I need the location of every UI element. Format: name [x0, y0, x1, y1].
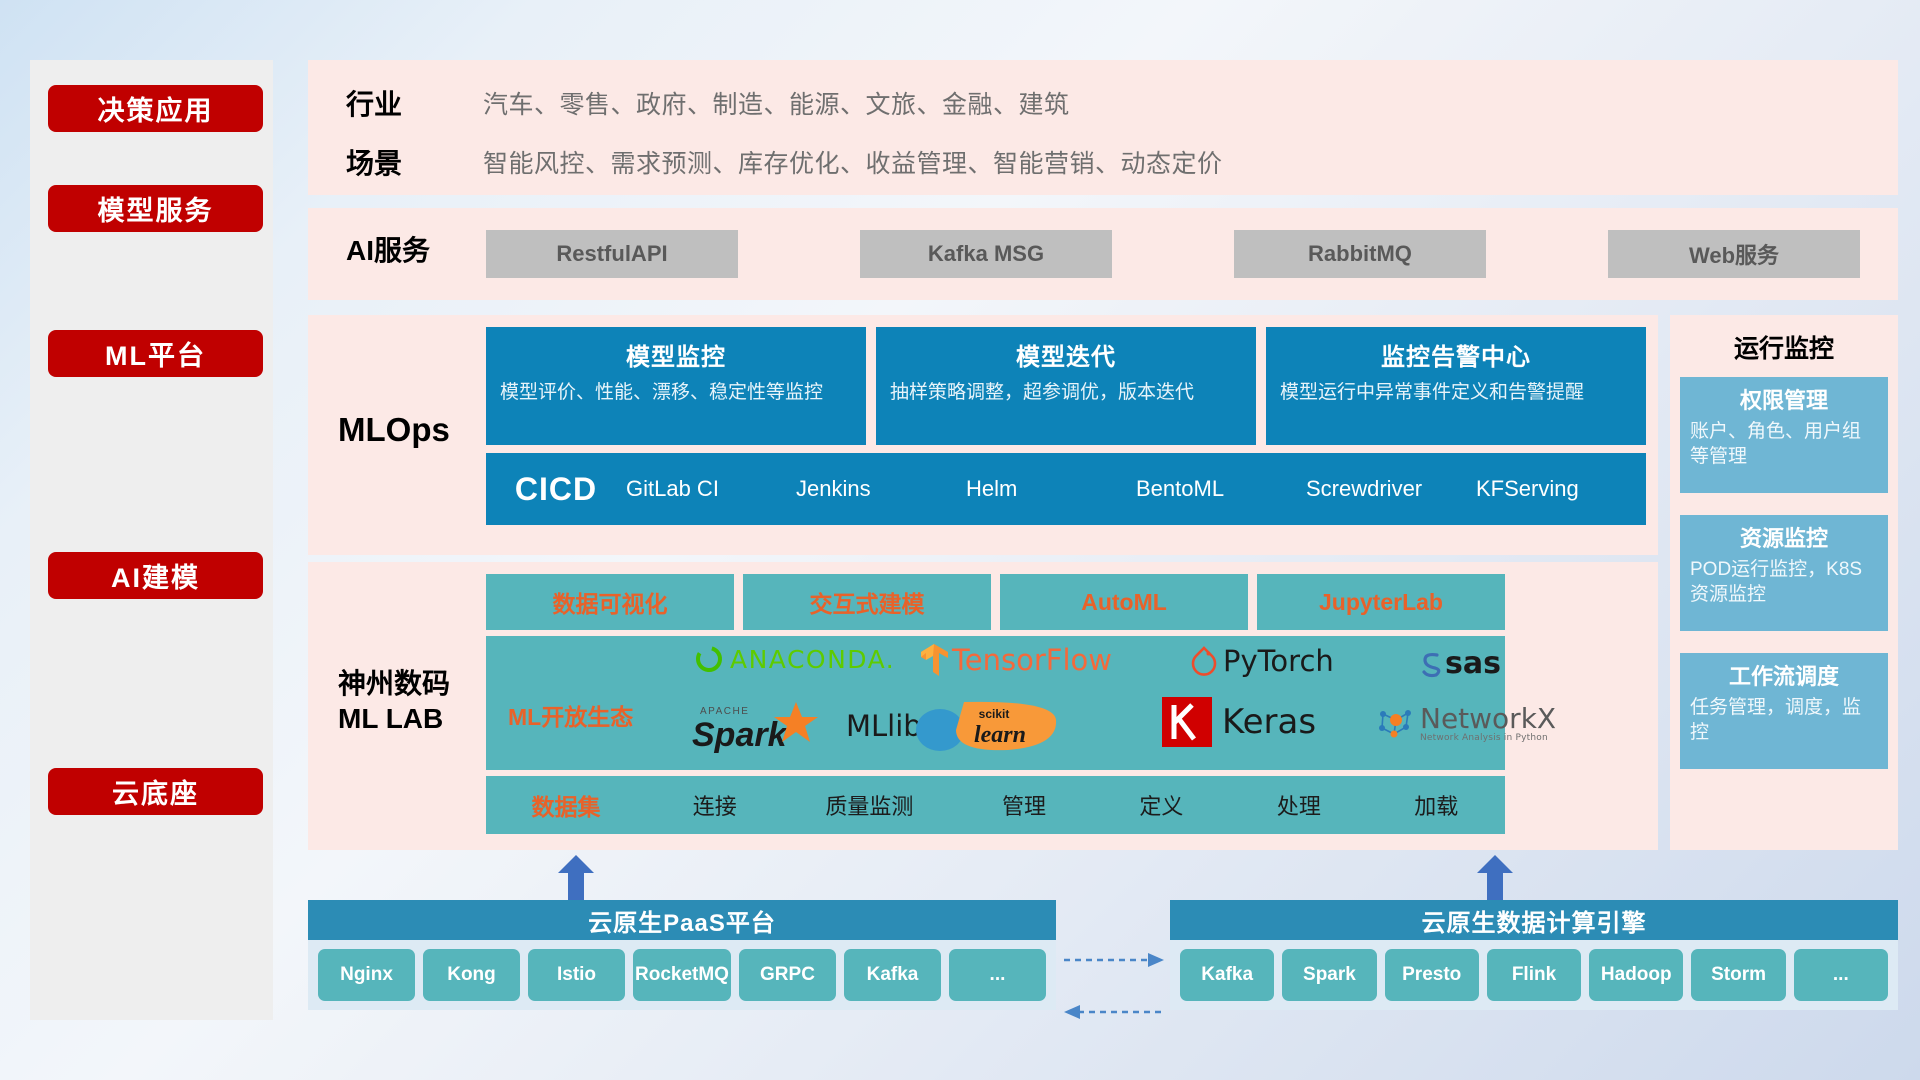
service-chip-kafka-msg[interactable]: Kafka MSG	[860, 230, 1112, 278]
scikit-learn-icon: scikit learn	[950, 700, 1062, 752]
industry-key: 行业	[308, 83, 483, 123]
paas-chip-istio[interactable]: Istio	[528, 949, 625, 1001]
scikit-learn-logo: scikit learn	[914, 700, 1062, 757]
ai-service-label: AI服务	[346, 234, 430, 268]
cloud-native-data-engine-box: 云原生数据计算引擎 Kafka Spark Presto Flink Hadoo…	[1170, 900, 1898, 1010]
anaconda-icon	[694, 644, 724, 674]
pytorch-label: PyTorch	[1223, 644, 1334, 678]
pytorch-icon	[1191, 646, 1217, 676]
tile-label: AutoML	[1081, 589, 1167, 616]
sas-logo: sas	[1418, 646, 1501, 681]
paas-chip-rocketmq[interactable]: RocketMQ	[633, 949, 731, 1001]
stage-label: 模型服务	[98, 189, 214, 228]
cicd-item-kfserving[interactable]: KFServing	[1476, 477, 1646, 501]
stage-pill-decision-app[interactable]: 决策应用	[48, 85, 263, 132]
dataset-item-process[interactable]: 处理	[1230, 789, 1367, 821]
industry-row: 行业 汽车、零售、政府、制造、能源、文旅、金融、建筑	[308, 72, 1898, 134]
mon-card-title: 资源监控	[1690, 521, 1878, 553]
arrow-right-dashed-icon	[1064, 952, 1164, 968]
service-chip-label: Kafka MSG	[928, 241, 1044, 267]
cicd-strip: CICD GitLab CI Jenkins Helm BentoML Scre…	[486, 453, 1646, 525]
mllab-label: 神州数码 ML LAB	[338, 666, 450, 736]
engine-chip-spark[interactable]: Spark	[1282, 949, 1376, 1001]
cicd-item-screwdriver[interactable]: Screwdriver	[1306, 477, 1476, 501]
service-chip-restfulapi[interactable]: RestfulAPI	[486, 230, 738, 278]
cloud-native-paas-chips: Nginx Kong Istio RocketMQ GRPC Kafka ...	[308, 940, 1056, 1010]
svg-text:learn: learn	[974, 722, 1026, 748]
pytorch-logo: PyTorch	[1191, 644, 1334, 678]
cicd-item-helm[interactable]: Helm	[966, 477, 1136, 501]
scenario-value: 智能风控、需求预测、库存优化、收益管理、智能营销、动态定价	[483, 144, 1223, 180]
mlops-card-title: 监控告警中心	[1280, 337, 1632, 372]
mon-card-resource-monitoring[interactable]: 资源监控 POD运行监控，K8S资源监控	[1680, 515, 1888, 631]
tile-label: JupyterLab	[1319, 589, 1443, 616]
cloud-native-paas-box: 云原生PaaS平台 Nginx Kong Istio RocketMQ GRPC…	[308, 900, 1056, 1010]
mon-card-desc: POD运行监控，K8S资源监控	[1690, 558, 1878, 607]
mllib-label: MLlib	[846, 709, 922, 743]
cloud-native-data-engine-title: 云原生数据计算引擎	[1170, 900, 1898, 940]
mon-card-desc: 账户、角色、用户组等管理	[1690, 420, 1878, 469]
mlops-card-desc: 模型运行中异常事件定义和告警提醒	[1280, 380, 1632, 405]
arrow-up-data-engine-icon	[1473, 855, 1517, 901]
stage-pill-model-service[interactable]: 模型服务	[48, 185, 263, 232]
keras-icon	[1162, 697, 1212, 747]
dataset-item-define[interactable]: 定义	[1093, 789, 1230, 821]
industry-value: 汽车、零售、政府、制造、能源、文旅、金融、建筑	[483, 85, 1070, 121]
mon-card-title: 权限管理	[1690, 383, 1878, 415]
tile-label: 交互式建模	[810, 585, 925, 619]
mlops-card-title: 模型监控	[500, 337, 852, 372]
stage-pill-cloud-base[interactable]: 云底座	[48, 768, 263, 815]
arrow-left-dashed-icon	[1064, 1004, 1164, 1020]
mlops-label: MLOps	[338, 410, 450, 450]
service-chip-label: RabbitMQ	[1308, 241, 1412, 267]
engine-chip-flink[interactable]: Flink	[1487, 949, 1581, 1001]
mon-card-title: 工作流调度	[1690, 659, 1878, 691]
mllab-label-cn: 神州数码	[338, 666, 450, 701]
engine-chip-more[interactable]: ...	[1794, 949, 1888, 1001]
dataset-label: 数据集	[486, 788, 646, 822]
dataset-item-quality[interactable]: 质量监测	[783, 789, 955, 821]
tensorflow-logo: TensorFlow	[920, 643, 1112, 677]
mon-card-desc: 任务管理，调度，监控	[1690, 696, 1878, 745]
mlops-card-alert-center[interactable]: 监控告警中心 模型运行中异常事件定义和告警提醒	[1266, 327, 1646, 445]
runtime-monitoring-column: 运行监控 权限管理 账户、角色、用户组等管理 资源监控 POD运行监控，K8S资…	[1670, 315, 1898, 850]
paas-chip-nginx[interactable]: Nginx	[318, 949, 415, 1001]
mlops-card-desc: 模型评价、性能、漂移、稳定性等监控	[500, 380, 852, 405]
stage-label: 云底座	[112, 772, 199, 811]
cicd-item-gitlab-ci[interactable]: GitLab CI	[626, 477, 796, 501]
decision-app-band: 行业 汽车、零售、政府、制造、能源、文旅、金融、建筑 场景 智能风控、需求预测、…	[308, 60, 1898, 195]
sas-label: sas	[1445, 646, 1501, 681]
stage-label: ML平台	[105, 334, 206, 373]
dataset-item-manage[interactable]: 管理	[955, 789, 1092, 821]
mon-card-permission-management[interactable]: 权限管理 账户、角色、用户组等管理	[1680, 377, 1888, 493]
svg-text:Spark: Spark	[692, 716, 789, 754]
service-chip-web-service[interactable]: Web服务	[1608, 230, 1860, 278]
scenario-key: 场景	[308, 142, 483, 182]
runtime-monitoring-title: 运行监控	[1670, 315, 1898, 365]
cloud-native-paas-title: 云原生PaaS平台	[308, 900, 1056, 940]
ml-open-ecosystem-panel: ML开放生态 ANACONDA. TensorFlow	[486, 636, 1505, 770]
cloud-native-data-engine-chips: Kafka Spark Presto Flink Hadoop Storm ..…	[1170, 940, 1898, 1010]
ai-modeling-band: 神州数码 ML LAB 数据可视化 交互式建模 AutoML JupyterLa…	[308, 562, 1658, 850]
mlops-card-model-iteration[interactable]: 模型迭代 抽样策略调整，超参调优，版本迭代	[876, 327, 1256, 445]
anaconda-label: ANACONDA.	[730, 645, 895, 674]
tile-automl[interactable]: AutoML	[1000, 574, 1248, 630]
networkx-label: NetworkX	[1420, 705, 1556, 733]
stage-label: AI建模	[111, 556, 200, 595]
mlops-card-title: 模型迭代	[890, 337, 1242, 372]
dataset-item-connect[interactable]: 连接	[646, 789, 783, 821]
service-chip-label: RestfulAPI	[556, 241, 667, 267]
cicd-item-jenkins[interactable]: Jenkins	[796, 477, 966, 501]
tile-interactive-modeling[interactable]: 交互式建模	[743, 574, 991, 630]
tile-data-visualization[interactable]: 数据可视化	[486, 574, 734, 630]
mon-card-workflow-scheduling[interactable]: 工作流调度 任务管理，调度，监控	[1680, 653, 1888, 769]
ml-open-ecosystem-label: ML开放生态	[508, 698, 633, 732]
mllab-label-en: ML LAB	[338, 701, 450, 736]
stage-pill-ai-modeling[interactable]: AI建模	[48, 552, 263, 599]
paas-chip-grpc[interactable]: GRPC	[739, 949, 836, 1001]
engine-chip-storm[interactable]: Storm	[1691, 949, 1785, 1001]
stage-pill-ml-platform[interactable]: ML平台	[48, 330, 263, 377]
sas-icon	[1418, 650, 1444, 678]
mlops-card-model-monitoring[interactable]: 模型监控 模型评价、性能、漂移、稳定性等监控	[486, 327, 866, 445]
spark-icon: APACHE Spark	[692, 698, 842, 754]
keras-label: Keras	[1222, 702, 1316, 742]
tensorflow-label: TensorFlow	[952, 643, 1112, 677]
tile-jupyterlab[interactable]: JupyterLab	[1257, 574, 1505, 630]
scenario-row: 场景 智能风控、需求预测、库存优化、收益管理、智能营销、动态定价	[308, 134, 1898, 190]
networkx-tagline: Network Analysis in Python	[1420, 733, 1556, 743]
mlops-card-desc: 抽样策略调整，超参调优，版本迭代	[890, 380, 1242, 405]
stage-label: 决策应用	[98, 89, 214, 128]
dataset-row: 数据集 连接 质量监测 管理 定义 处理 加载	[486, 776, 1505, 834]
svg-text:scikit: scikit	[979, 707, 1010, 721]
paas-chip-kong[interactable]: Kong	[423, 949, 520, 1001]
paas-chip-more[interactable]: ...	[949, 949, 1046, 1001]
service-chip-label: Web服务	[1689, 238, 1779, 270]
service-chip-rabbitmq[interactable]: RabbitMQ	[1234, 230, 1486, 278]
engine-chip-presto[interactable]: Presto	[1385, 949, 1479, 1001]
networkx-logo: NetworkX Network Analysis in Python	[1374, 704, 1556, 744]
cicd-item-bentoml[interactable]: BentoML	[1136, 477, 1306, 501]
keras-logo: Keras	[1162, 697, 1316, 747]
ml-platform-band: MLOps 模型监控 模型评价、性能、漂移、稳定性等监控 模型迭代 抽样策略调整…	[308, 315, 1658, 555]
arrow-up-paas-icon	[554, 855, 598, 901]
engine-chip-hadoop[interactable]: Hadoop	[1589, 949, 1683, 1001]
tile-label: 数据可视化	[553, 585, 668, 619]
spark-mllib-logo: APACHE Spark MLlib	[692, 698, 922, 754]
anaconda-logo: ANACONDA.	[694, 644, 895, 674]
cicd-title: CICD	[486, 471, 626, 508]
networkx-icon	[1374, 704, 1416, 744]
dataset-item-load[interactable]: 加载	[1368, 789, 1505, 821]
model-service-band: AI服务 RestfulAPI Kafka MSG RabbitMQ Web服务	[308, 208, 1898, 300]
engine-chip-kafka[interactable]: Kafka	[1180, 949, 1274, 1001]
paas-chip-kafka[interactable]: Kafka	[844, 949, 941, 1001]
tensorflow-icon	[920, 644, 948, 676]
